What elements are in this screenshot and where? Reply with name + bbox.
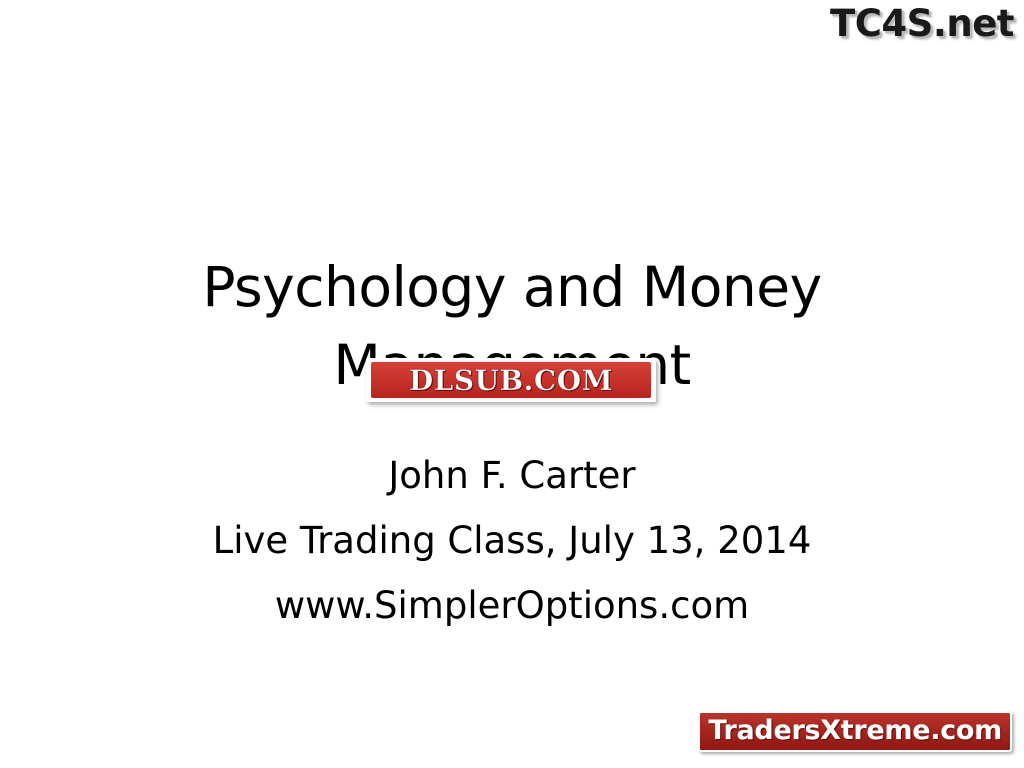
- presentation-slide: TC4S.net Psychology and Money Management…: [0, 0, 1024, 768]
- tradersxtreme-watermark: TradersXtreme.com: [698, 711, 1012, 752]
- subtitle-website: www.SimplerOptions.com: [0, 573, 1024, 638]
- tradersxtreme-watermark-label: TradersXtreme.com: [708, 715, 1002, 746]
- subtitle-class-date: Live Trading Class, July 13, 2014: [0, 508, 1024, 573]
- dlsub-watermark: DLSUB.COM: [366, 358, 656, 402]
- dlsub-watermark-label: DLSUB.COM: [409, 364, 613, 397]
- dlsub-watermark-inner: DLSUB.COM: [371, 362, 651, 398]
- slide-subtitle: John F. Carter Live Trading Class, July …: [0, 443, 1024, 638]
- tc4s-watermark: TC4S.net: [830, 2, 1014, 45]
- subtitle-author: John F. Carter: [0, 443, 1024, 508]
- slide-title-line-1: Psychology and Money: [0, 248, 1024, 326]
